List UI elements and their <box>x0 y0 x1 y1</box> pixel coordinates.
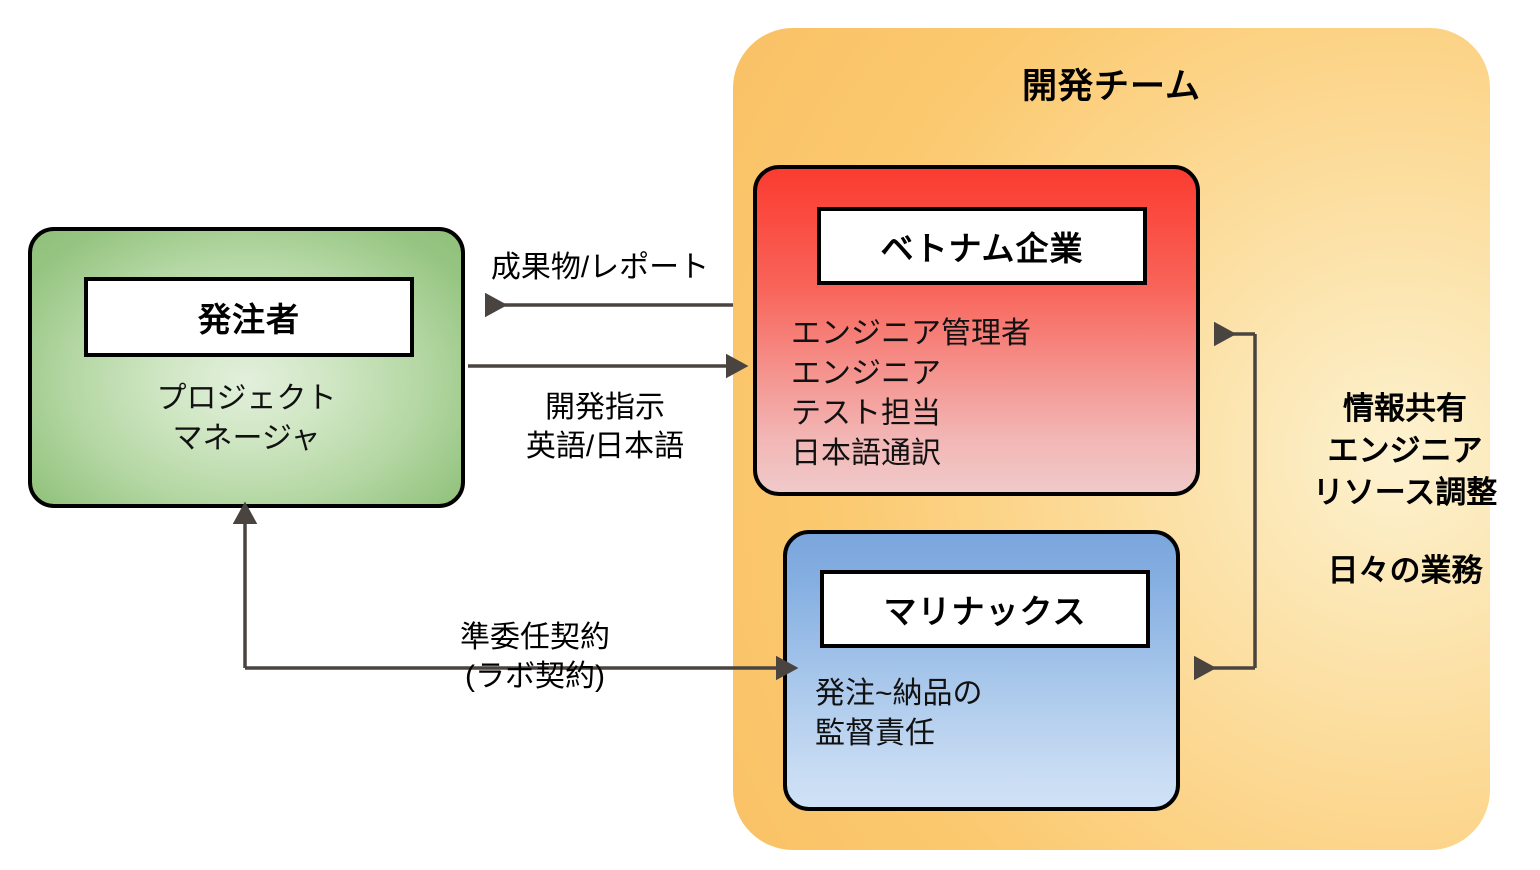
edge-label-contract: 準委任契約 (ラボ契約) <box>385 618 685 696</box>
note-information-sharing: 情報共有 エンジニア リソース調整 <box>1280 388 1530 514</box>
client-roles: プロジェクト マネージャ <box>32 379 461 459</box>
vendor-title: ベトナム企業 <box>817 207 1147 285</box>
edge-label-deliverable: 成果物/レポート <box>455 248 745 287</box>
development-team-title: 開発チーム <box>733 58 1490 109</box>
partner-box: マリナックス 発注~納品の 監督責任 <box>783 530 1180 811</box>
client-title: 発注者 <box>84 277 414 357</box>
partner-roles: 発注~納品の 監督責任 <box>815 674 983 754</box>
diagram-canvas: 開発チーム 発注者 プロジェクト マネージャ ベトナム企業 エンジニア管理者 エ… <box>0 0 1540 870</box>
partner-title: マリナックス <box>820 570 1150 648</box>
edge-label-instruction: 開発指示 英語/日本語 <box>470 388 740 466</box>
note-daily-work: 日々の業務 <box>1280 550 1530 592</box>
vendor-box: ベトナム企業 エンジニア管理者 エンジニア テスト担当 日本語通訳 <box>753 165 1200 496</box>
client-box: 発注者 プロジェクト マネージャ <box>28 227 465 508</box>
vendor-roles: エンジニア管理者 エンジニア テスト担当 日本語通訳 <box>791 314 1031 474</box>
